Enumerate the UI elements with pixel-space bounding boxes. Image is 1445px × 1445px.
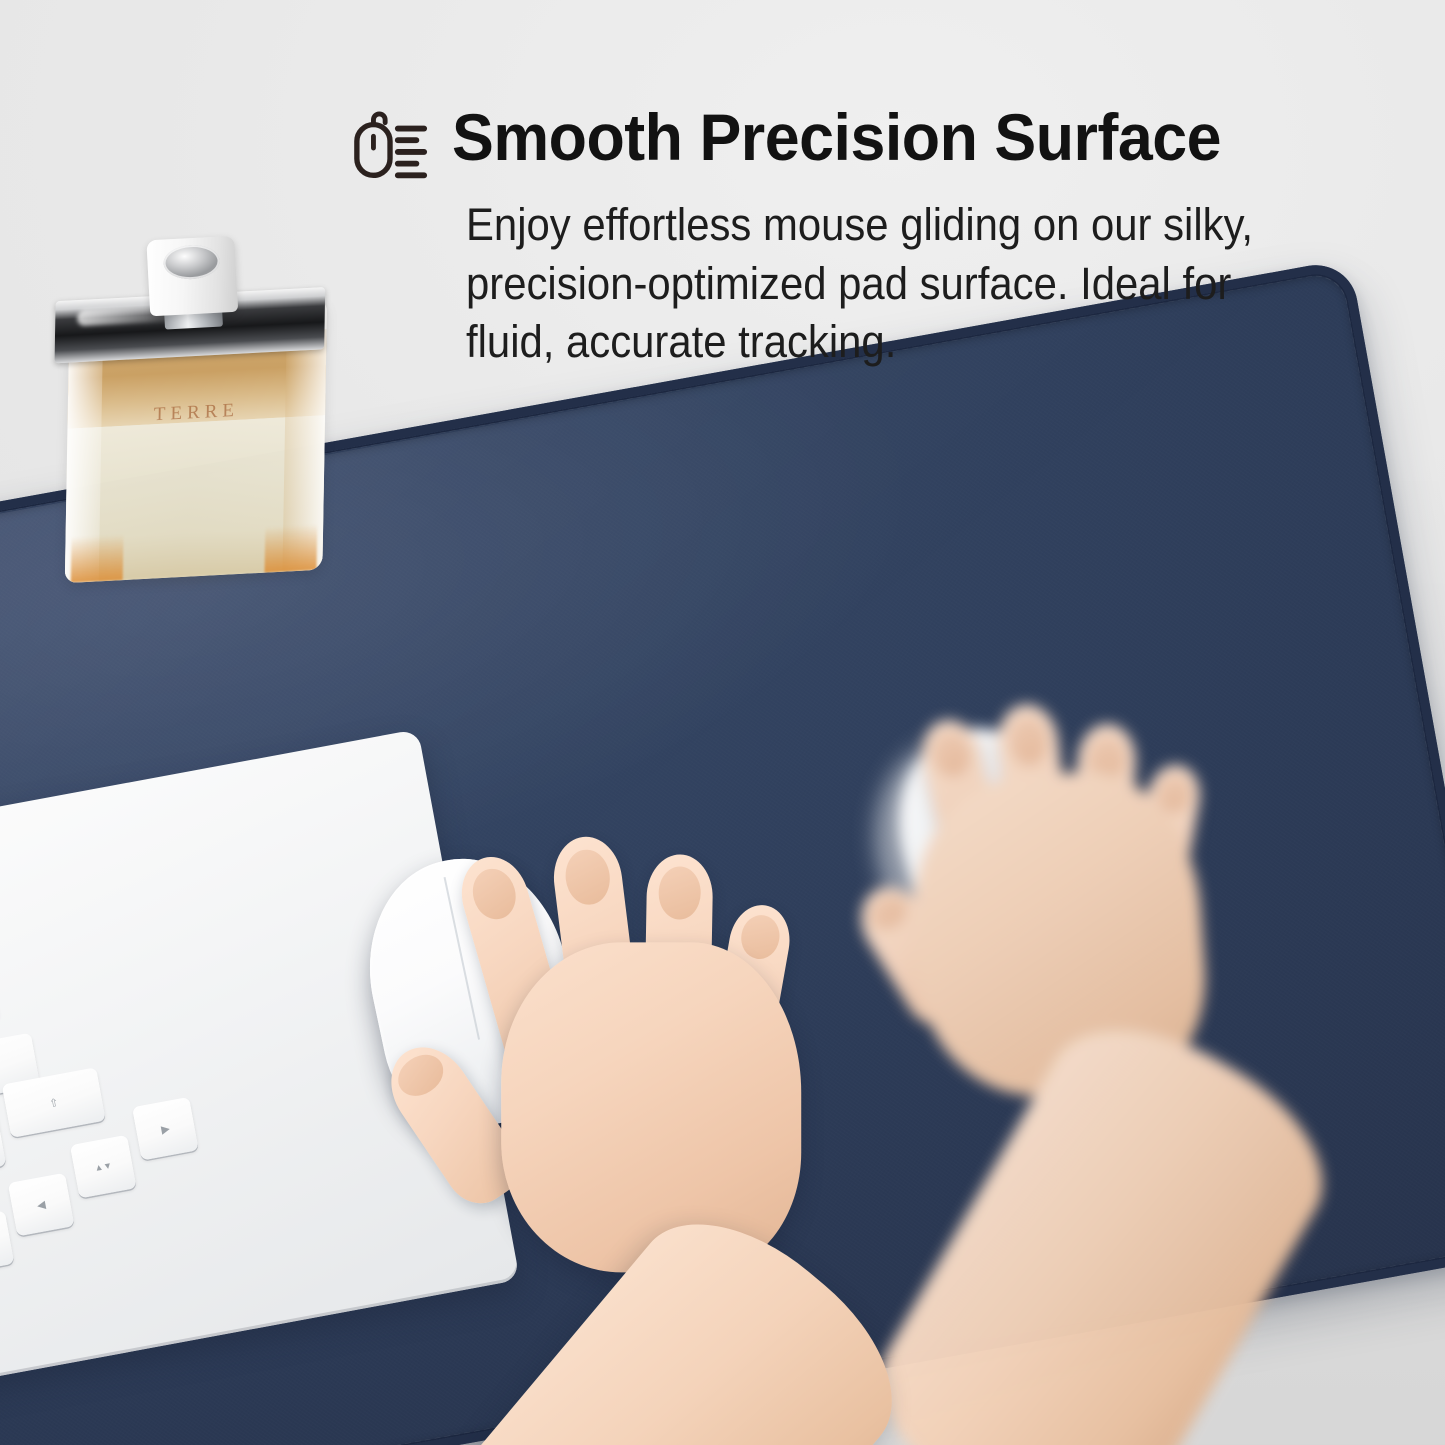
subtitle-line-2: precision-optimized pad surface. Ideal f…: [466, 255, 1284, 314]
cap-medallion: [163, 244, 221, 281]
fingernail: [1006, 714, 1049, 767]
fingernail: [467, 863, 522, 924]
palm-front: [501, 942, 801, 1272]
key-arrow-left: ◀: [8, 1173, 75, 1237]
subtitle-line-1: Enjoy effortless mouse gliding on our si…: [466, 196, 1284, 255]
subtitle: Enjoy effortless mouse gliding on our si…: [466, 196, 1284, 372]
key-slash: ?: [0, 1112, 6, 1176]
headline-row: Smooth Precision Surface: [352, 104, 1262, 188]
fingernail: [563, 847, 613, 907]
perfume-bottle: TERRE: [43, 231, 352, 616]
fingernail: [928, 727, 975, 780]
fingernail: [738, 912, 783, 962]
fingernail: [658, 866, 701, 920]
perfume-cap: [146, 236, 238, 317]
bottle-foot-right: [264, 524, 317, 573]
product-image-canvas: TERRE F10 F11 F12 ⏏ – + ⌫ O [ ] \ P: [0, 0, 1445, 1445]
key-option: ⌥ option: [0, 1210, 14, 1279]
mouse-motion-icon: [352, 110, 430, 188]
hand-on-mouse-front: [373, 823, 955, 1445]
key-arrow-up-down: ▲▼: [70, 1135, 137, 1199]
subtitle-line-3: fluid, accurate tracking.: [466, 313, 1284, 372]
page-title: Smooth Precision Surface: [452, 104, 1221, 170]
key-arrow-right: ▶: [132, 1097, 199, 1161]
bottle-foot-left: [71, 534, 124, 583]
